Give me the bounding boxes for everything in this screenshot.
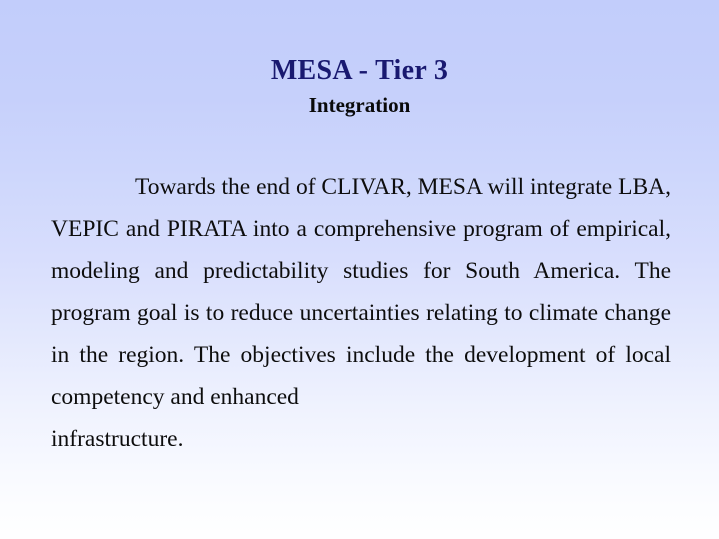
slide-subtitle: Integration bbox=[0, 92, 719, 118]
slide-body-text: Towards the end of CLIVAR, MESA will int… bbox=[51, 174, 671, 410]
slide-title: MESA - Tier 3 bbox=[0, 54, 719, 88]
slide-title-block: MESA - Tier 3 Integration bbox=[0, 54, 719, 118]
slide-body-block: Towards the end of CLIVAR, MESA will int… bbox=[51, 166, 671, 502]
slide-body-last-line: infrastructure. bbox=[51, 418, 671, 460]
slide-body-paragraph: Towards the end of CLIVAR, MESA will int… bbox=[51, 166, 671, 502]
presentation-slide: MESA - Tier 3 Integration Towards the en… bbox=[0, 0, 719, 539]
